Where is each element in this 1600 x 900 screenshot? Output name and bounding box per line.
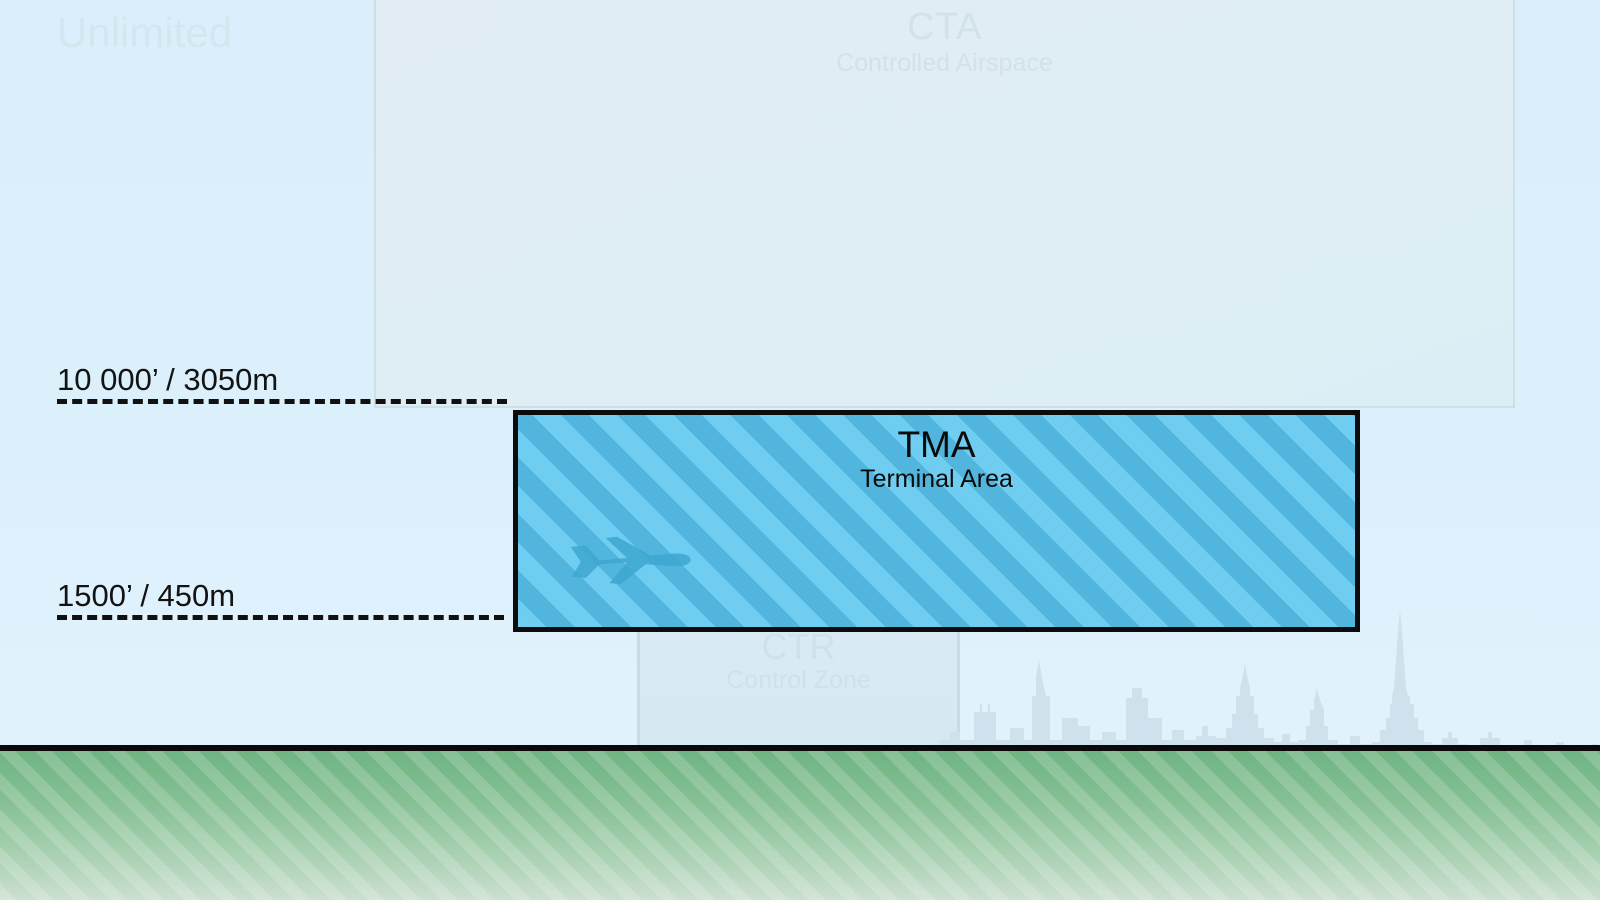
airspace-diagram: CTA Controlled Airspace Unlimited 10 000… <box>0 0 1600 900</box>
cta-airspace-block <box>374 0 1515 408</box>
ctr-airspace-block <box>637 632 960 750</box>
unlimited-label: Unlimited <box>57 10 232 56</box>
tma-label-group: TMA Terminal Area <box>518 426 1355 493</box>
altitude-label-10000: 10 000’ / 3050m <box>57 364 278 395</box>
tma-name: Terminal Area <box>518 466 1355 494</box>
altitude-dashed-line-1500 <box>57 615 504 620</box>
ground-surface <box>0 751 1600 900</box>
altitude-dashed-line-10000 <box>57 399 507 404</box>
altitude-label-1500: 1500’ / 450m <box>57 580 235 611</box>
tma-code: TMA <box>518 426 1355 465</box>
airplane-icon-tma <box>566 533 693 588</box>
tma-airspace-block: TMA Terminal Area <box>513 410 1360 632</box>
